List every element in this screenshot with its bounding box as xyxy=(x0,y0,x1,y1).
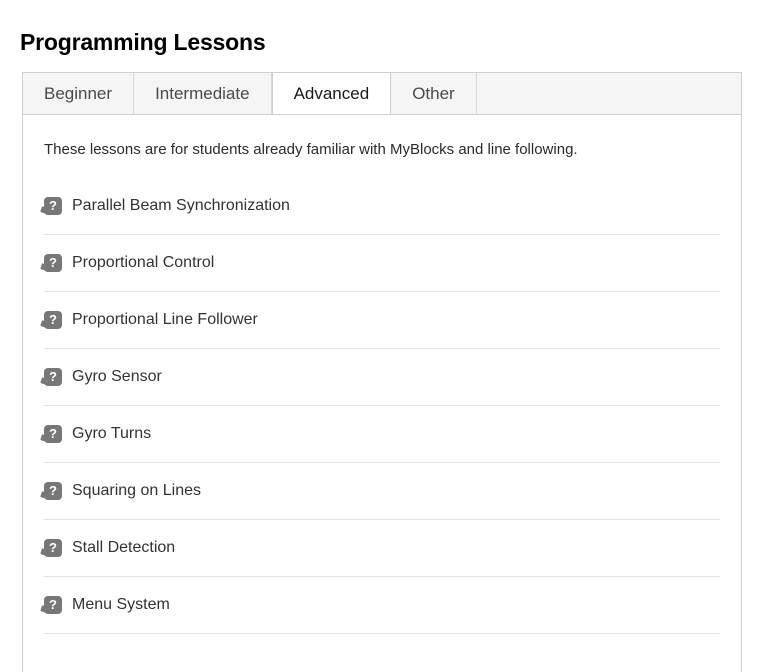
lesson-label: Stall Detection xyxy=(72,538,175,558)
list-item[interactable]: ? Parallel Beam Synchronization xyxy=(44,178,720,235)
tab-label: Beginner xyxy=(44,73,112,114)
help-icon-glyph: ? xyxy=(44,311,62,329)
tab-label: Other xyxy=(412,73,455,114)
lessons-panel: Beginner Intermediate Advanced Other The… xyxy=(22,72,742,672)
help-icon: ? xyxy=(44,368,62,386)
help-icon-glyph: ? xyxy=(44,596,62,614)
lesson-label: Gyro Turns xyxy=(72,424,151,444)
lesson-label: Parallel Beam Synchronization xyxy=(72,196,290,216)
help-icon: ? xyxy=(44,311,62,329)
help-icon: ? xyxy=(44,596,62,614)
list-item[interactable]: ? Menu System xyxy=(44,577,720,634)
lesson-label: Proportional Line Follower xyxy=(72,310,258,330)
help-icon-glyph: ? xyxy=(44,539,62,557)
help-icon: ? xyxy=(44,482,62,500)
tab-bar-filler xyxy=(477,73,741,114)
tab-intermediate[interactable]: Intermediate xyxy=(134,73,272,114)
tab-bar: Beginner Intermediate Advanced Other xyxy=(23,73,741,115)
lesson-label: Gyro Sensor xyxy=(72,367,162,387)
help-icon-glyph: ? xyxy=(44,425,62,443)
tab-other[interactable]: Other xyxy=(391,73,477,114)
help-icon-glyph: ? xyxy=(44,254,62,272)
list-item[interactable]: ? Squaring on Lines xyxy=(44,463,720,520)
help-icon-glyph: ? xyxy=(44,482,62,500)
list-item[interactable]: ? Gyro Sensor xyxy=(44,349,720,406)
help-icon-glyph: ? xyxy=(44,368,62,386)
tab-beginner[interactable]: Beginner xyxy=(23,73,134,114)
tab-advanced[interactable]: Advanced xyxy=(272,73,392,115)
help-icon: ? xyxy=(44,254,62,272)
panel-intro-text: These lessons are for students already f… xyxy=(44,115,720,160)
lesson-label: Proportional Control xyxy=(72,253,214,273)
tab-label: Advanced xyxy=(294,73,370,114)
help-icon: ? xyxy=(44,539,62,557)
list-item[interactable]: ? Proportional Control xyxy=(44,235,720,292)
lesson-list: ? Parallel Beam Synchronization ? Propor… xyxy=(44,178,720,634)
help-icon: ? xyxy=(44,197,62,215)
page-root: Programming Lessons Beginner Intermediat… xyxy=(0,0,764,643)
list-item[interactable]: ? Stall Detection xyxy=(44,520,720,577)
help-icon: ? xyxy=(44,425,62,443)
lesson-label: Menu System xyxy=(72,595,170,615)
lesson-label: Squaring on Lines xyxy=(72,481,201,501)
list-item[interactable]: ? Proportional Line Follower xyxy=(44,292,720,349)
tab-label: Intermediate xyxy=(155,73,250,114)
tab-panel-advanced: These lessons are for students already f… xyxy=(23,115,741,634)
page-title: Programming Lessons xyxy=(20,28,265,56)
list-item[interactable]: ? Gyro Turns xyxy=(44,406,720,463)
help-icon-glyph: ? xyxy=(44,197,62,215)
